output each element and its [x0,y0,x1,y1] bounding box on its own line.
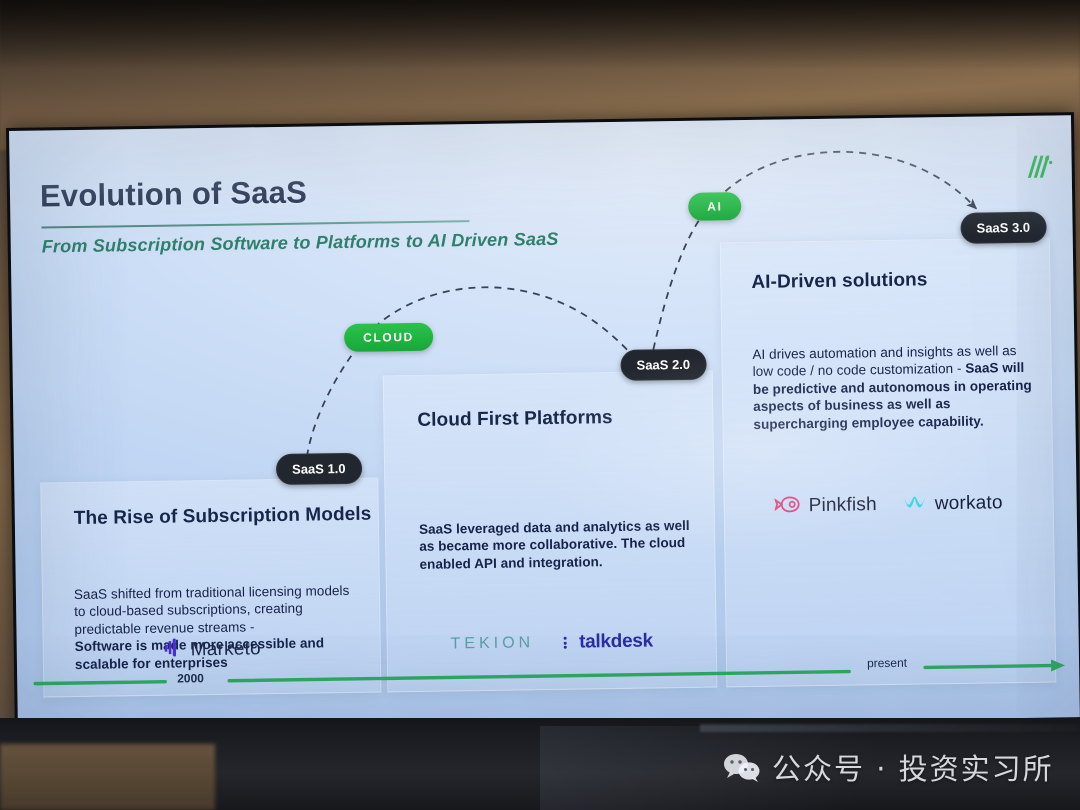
watermark-text: 公众号 · 投资实习所 [772,746,1054,788]
logo-label: Pinkfish [808,494,876,517]
badge-saas-1-0[interactable]: SaaS 1.0 [276,453,362,485]
card-heading: Cloud First Platforms [417,406,613,432]
logo-talkdesk: talkdesk [564,630,653,653]
stage-card-saas-1[interactable]: The Rise of Subscription Models SaaS shi… [40,478,381,698]
ceiling-shadow [0,0,1080,70]
timeline-end-label: present [867,656,907,671]
card-logo-row: TEKION talkdesk [388,630,716,657]
tv-screen: Evolution of SaaS From Subscription Soft… [6,112,1080,736]
presentation-slide: Evolution of SaaS From Subscription Soft… [9,115,1080,733]
wechat-watermark: 公众号 · 投资实习所 [722,746,1054,788]
card-body-bold: SaaS leveraged data and analytics as wel… [419,517,690,571]
badge-transition-cloud[interactable]: CLOUD [344,323,433,352]
logo-pinkfish: Pinkfish [774,494,876,518]
stage-card-saas-2[interactable]: Cloud First Platforms SaaS leveraged dat… [383,371,718,693]
card-heading: The Rise of Subscription Models [74,503,372,531]
tekion-wordmark: TEKION [450,634,534,653]
photo-of-tv-screen: Evolution of SaaS From Subscription Soft… [0,0,1080,810]
wechat-icon [722,752,762,782]
badge-saas-2-0[interactable]: SaaS 2.0 [620,349,706,381]
green-bars-logo-icon [1023,153,1053,179]
logo-marketo: Marketo [163,636,261,662]
title-divider [41,220,469,228]
talkdesk-dots-icon [564,635,569,650]
logo-label: Marketo [191,638,261,661]
card-logo-row: Pinkfish workato [725,492,1053,519]
logo-tekion: TEKION [450,634,534,653]
logo-label: talkdesk [579,630,653,653]
card-body-regular: SaaS shifted from traditional licensing … [74,583,350,637]
workato-w-icon [903,493,927,515]
badge-saas-3-0[interactable]: SaaS 3.0 [960,212,1046,244]
badge-transition-ai[interactable]: AI [688,192,742,221]
card-logo-row: Marketo [44,635,380,665]
marketo-bars-icon [163,637,183,662]
pinkfish-fish-icon [774,496,800,517]
card-body: SaaS leveraged data and analytics as wel… [419,499,698,573]
stage-card-saas-3[interactable]: AI-Driven solutions AI drives automation… [720,238,1057,688]
slide-subtitle: From Subscription Software to Platforms … [42,229,559,258]
card-heading: AI-Driven solutions [751,268,927,294]
logo-workato: workato [903,492,1003,515]
logo-label: workato [935,492,1003,515]
card-body: AI drives automation and insights as wel… [752,324,1036,433]
timeline-start-label: 2000 [177,671,204,685]
room-furniture-left [0,744,215,810]
slide-title: Evolution of SaaS [40,175,307,215]
